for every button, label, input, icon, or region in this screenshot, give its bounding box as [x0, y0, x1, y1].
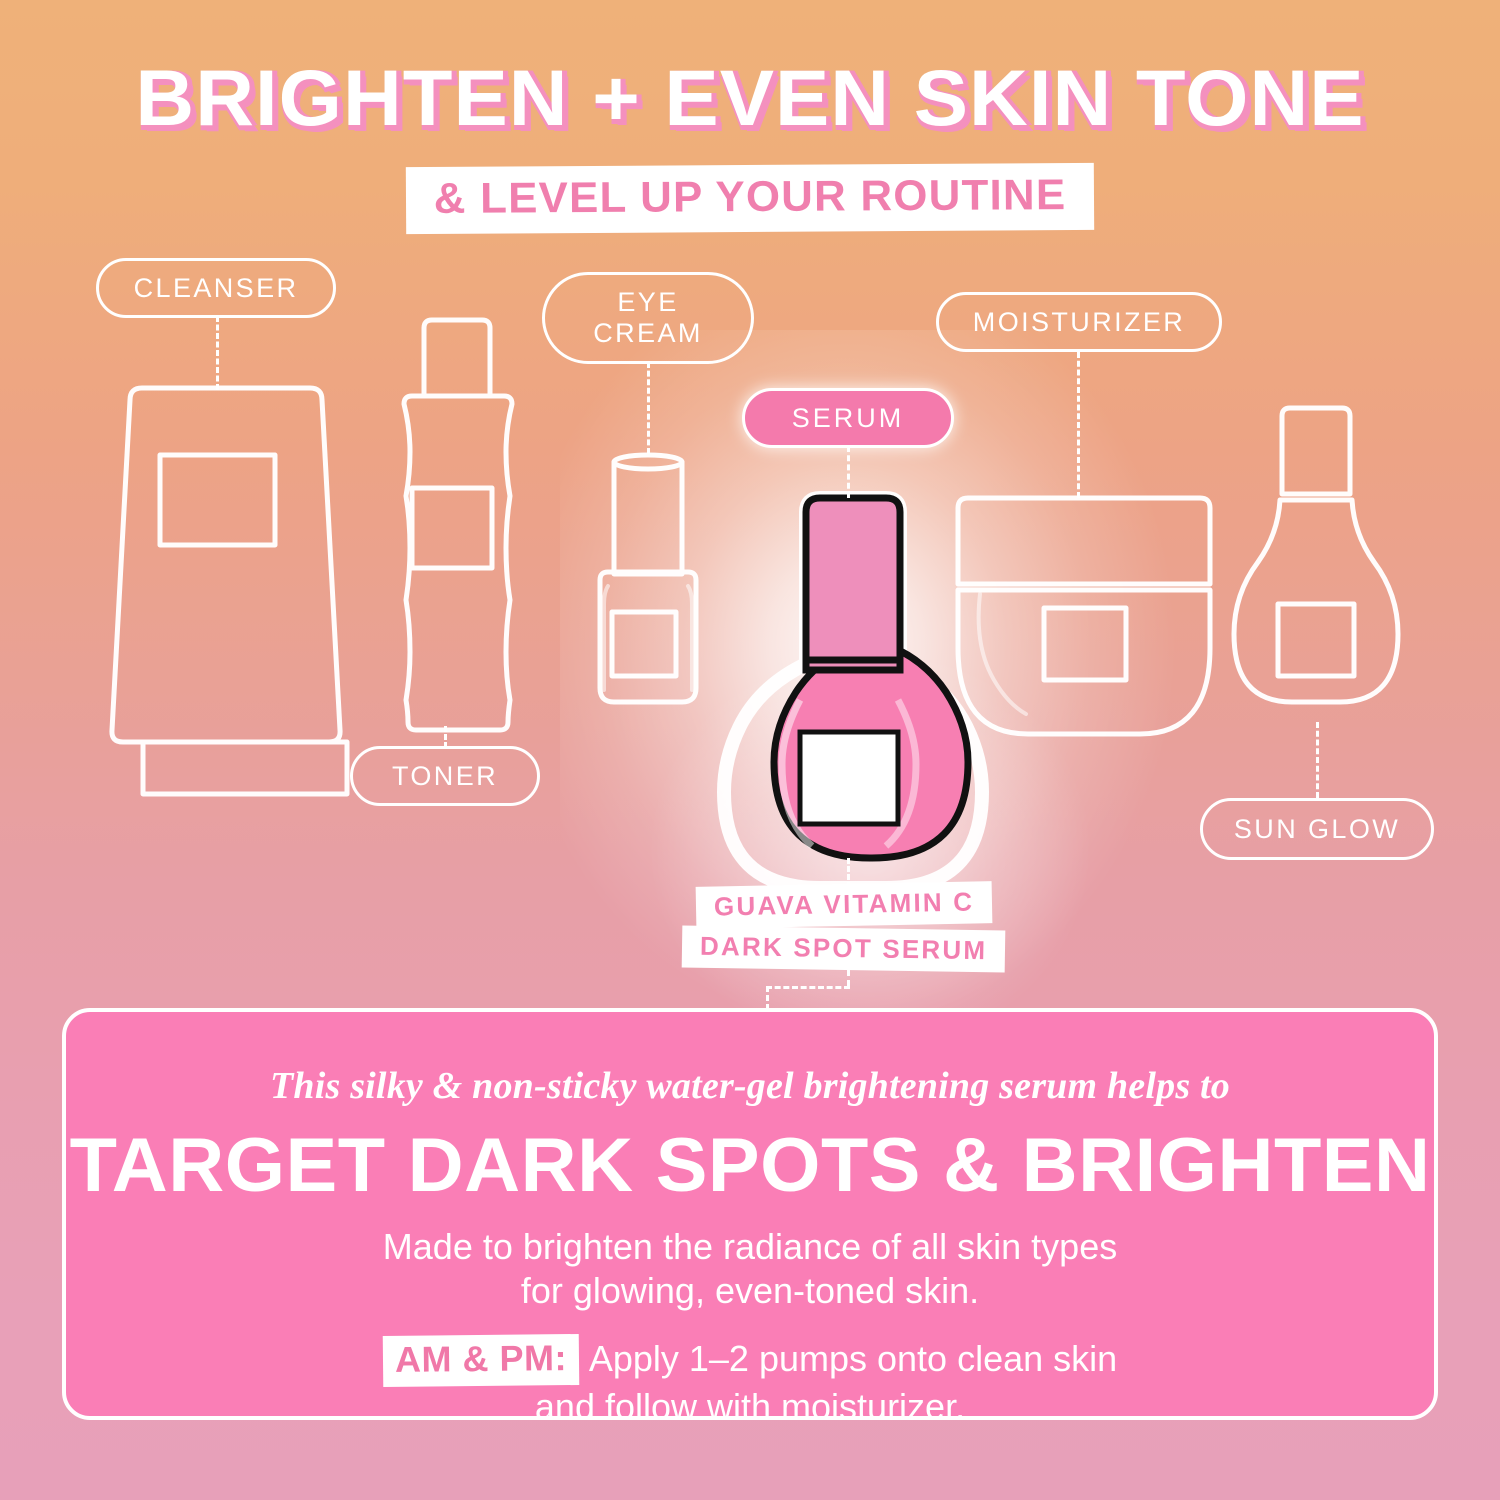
- step-label-serum[interactable]: SERUM: [742, 388, 954, 448]
- serum-highlight-left: [782, 700, 812, 846]
- connector-toner: [444, 726, 447, 748]
- howto-tag: AM & PM:: [383, 1334, 580, 1387]
- step-label-sun-glow-text: SUN GLOW: [1234, 814, 1400, 845]
- serum-highlight-right: [886, 700, 916, 846]
- step-label-moisturizer-text: MOISTURIZER: [973, 307, 1185, 338]
- eyecream-label: [612, 612, 676, 676]
- toner-body: [404, 396, 512, 730]
- connector-sun-glow: [1316, 722, 1319, 798]
- sunglow-cap: [1282, 408, 1350, 494]
- serum-cap: [806, 498, 900, 670]
- card-howto-line2: and follow with moisturizer.: [383, 1385, 1117, 1430]
- description-card: This silky & non-sticky water-gel bright…: [62, 1008, 1438, 1420]
- cleanser-tube-body: [112, 388, 340, 742]
- eyecream-cap: [614, 462, 682, 574]
- eyecream-highlight-right: [688, 586, 692, 690]
- moisturizer-highlight: [979, 594, 1026, 714]
- connector-name-across: [766, 986, 850, 989]
- subtitle-wrap: & LEVEL UP YOUR ROUTINE: [0, 165, 1500, 232]
- product-name-banner: GUAVA VITAMIN C DARK SPOT SERUM: [670, 884, 1018, 970]
- serum-label: [800, 732, 898, 824]
- connector-name-down: [766, 986, 769, 1010]
- cleanser-label: [160, 455, 275, 545]
- step-label-serum-text: SERUM: [792, 403, 905, 434]
- connector-moisturizer: [1077, 352, 1080, 498]
- step-label-sun-glow[interactable]: SUN GLOW: [1200, 798, 1434, 860]
- card-howto: AM & PM:Apply 1–2 pumps onto clean skin …: [383, 1335, 1117, 1430]
- step-label-toner-text: TONER: [392, 761, 498, 792]
- card-italic-line: This silky & non-sticky water-gel bright…: [270, 1064, 1230, 1108]
- step-label-eye-cream-text: EYE CREAM: [593, 287, 703, 349]
- serum-halo: [724, 498, 982, 888]
- eyecream-cap-top: [614, 455, 682, 469]
- card-howto-row1: AM & PM:Apply 1–2 pumps onto clean skin: [383, 1335, 1117, 1386]
- connector-cleanser: [216, 316, 219, 390]
- moisturizer-lid: [958, 498, 1210, 584]
- connector-eye-cream: [647, 362, 650, 454]
- step-label-cleanser-text: CLEANSER: [134, 273, 299, 304]
- eyecream-body: [600, 572, 696, 702]
- serum-bottle: [724, 498, 982, 888]
- card-body: Made to brighten the radiance of all ski…: [383, 1225, 1117, 1313]
- poster-root: BRIGHTEN + EVEN SKIN TONE & LEVEL UP YOU…: [0, 0, 1500, 1500]
- subtitle-banner: & LEVEL UP YOUR ROUTINE: [406, 163, 1095, 234]
- connector-serum: [847, 446, 850, 498]
- eyecream-highlight-left: [604, 586, 608, 690]
- toner-label: [412, 488, 492, 568]
- product-name-line1: GUAVA VITAMIN C: [695, 881, 992, 929]
- sunglow-label: [1278, 604, 1354, 676]
- toner-cap: [424, 320, 490, 396]
- page-title: BRIGHTEN + EVEN SKIN TONE: [0, 52, 1500, 144]
- step-label-moisturizer[interactable]: MOISTURIZER: [936, 292, 1222, 352]
- subtitle-text: & LEVEL UP YOUR ROUTINE: [434, 171, 1067, 224]
- card-body-line1: Made to brighten the radiance of all ski…: [383, 1225, 1117, 1269]
- moisturizer-label: [1044, 608, 1126, 680]
- moisturizer-base: [958, 590, 1210, 734]
- step-label-toner[interactable]: TONER: [350, 746, 540, 806]
- product-name-line2: DARK SPOT SERUM: [682, 925, 1006, 972]
- cleanser-tube-cap: [143, 742, 347, 794]
- serum-glow-lower: [640, 640, 1100, 1060]
- serum-body: [774, 636, 968, 858]
- card-headline: TARGET DARK SPOTS & BRIGHTEN: [70, 1122, 1431, 1209]
- sunglow-body: [1234, 500, 1398, 702]
- step-label-cleanser[interactable]: CLEANSER: [96, 258, 336, 318]
- step-label-eye-cream[interactable]: EYE CREAM: [542, 272, 754, 364]
- card-howto-line1: Apply 1–2 pumps onto clean skin: [589, 1338, 1117, 1379]
- card-body-line2: for glowing, even-toned skin.: [383, 1269, 1117, 1313]
